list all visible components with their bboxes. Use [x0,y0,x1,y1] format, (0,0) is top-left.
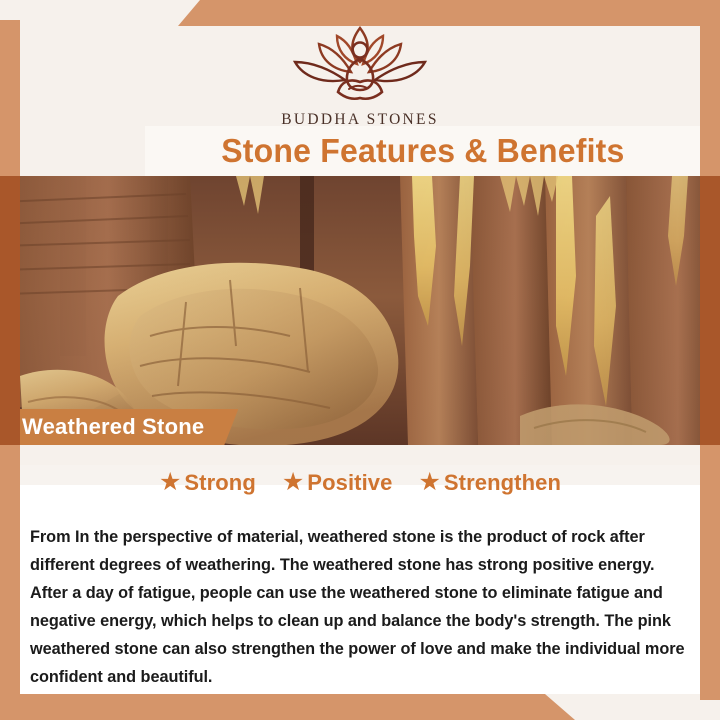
brand-logo: BUDDHA STONES [0,22,720,129]
content-panel: ★ Strong ★ Positive ★ Strengthen From In… [20,465,700,694]
description-paragraph: From In the perspective of material, wea… [30,523,695,691]
weathered-stone-illustration [0,176,720,445]
feature-item-strong: ★ Strong [159,470,256,496]
feature-label: Positive [307,470,392,496]
frame-bottom-accent [0,694,720,720]
hero-photo: Weathered Stone [0,176,720,445]
feature-item-positive: ★ Positive [282,470,393,496]
star-icon: ★ [282,470,304,495]
photo-caption-label: Weathered Stone [0,409,238,445]
frame-left-photo-accent [0,176,20,445]
page-title: Stone Features & Benefits [221,132,624,170]
frame-right-photo-accent [700,176,720,445]
section-title-banner: Stone Features & Benefits [145,126,700,176]
feature-list: ★ Strong ★ Positive ★ Strengthen [20,470,700,496]
lotus-meditation-icon [0,22,720,109]
feature-label: Strengthen [444,470,561,496]
feature-label: Strong [184,470,255,496]
star-icon: ★ [159,470,181,495]
star-icon: ★ [418,470,440,495]
feature-item-strengthen: ★ Strengthen [418,470,561,496]
product-info-card: BUDDHA STONES [0,0,720,720]
